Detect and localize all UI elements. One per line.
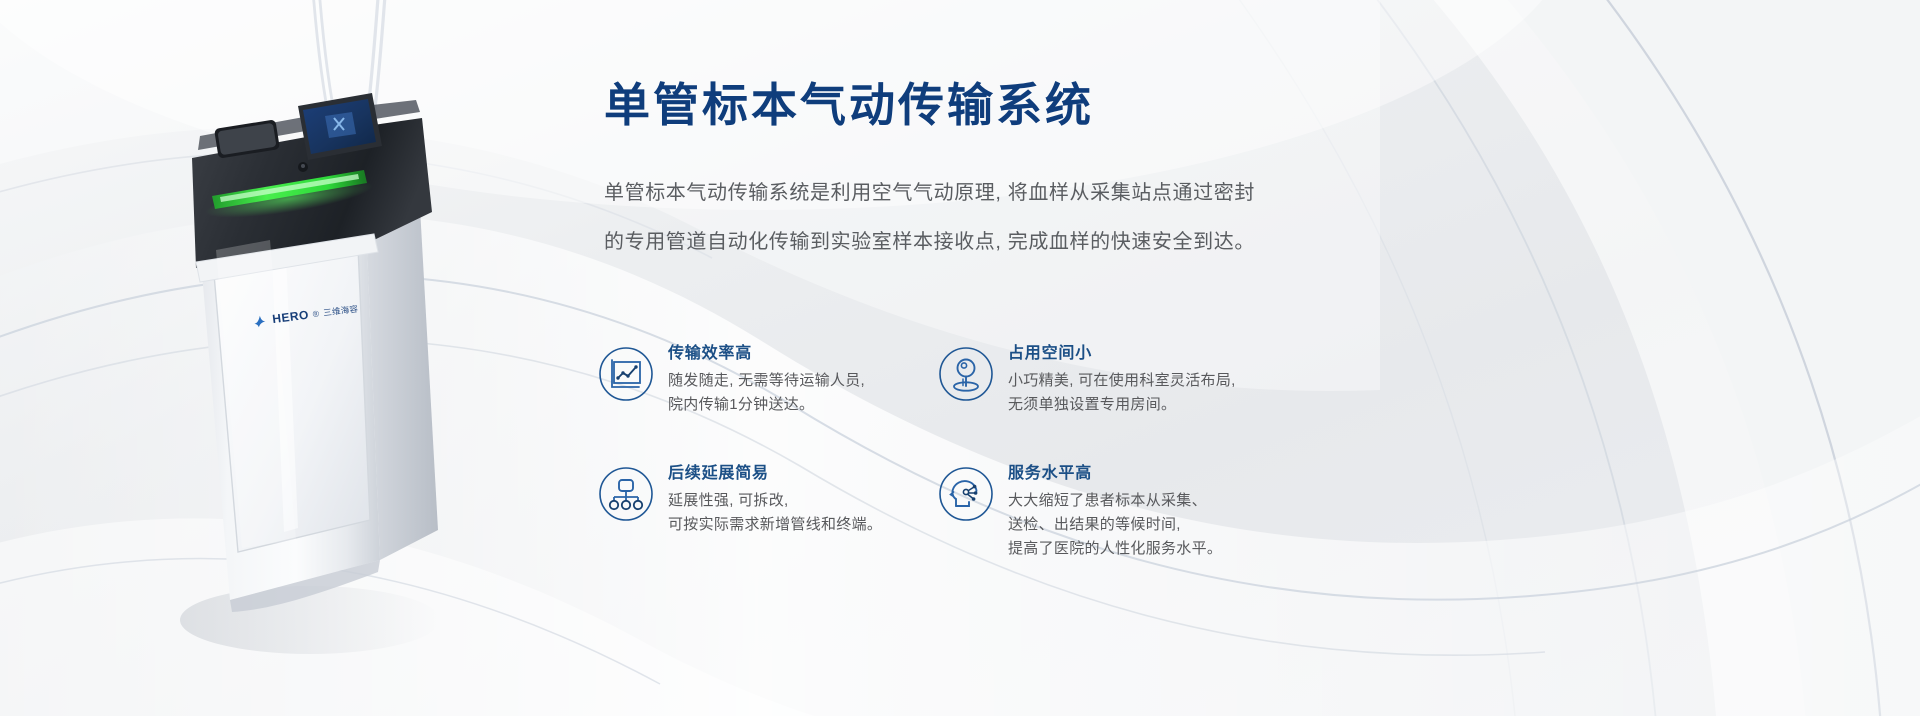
feature-grid: 传输效率高 随发随走, 无需等待运输人员, 院内传输1分钟送达。 占用空间小 小… bbox=[598, 340, 1298, 561]
location-pin-icon bbox=[938, 346, 994, 402]
brand-wordmark: HERO bbox=[272, 308, 310, 326]
brand-registered: ® bbox=[312, 308, 320, 319]
intro-paragraph: 单管标本气动传输系统是利用空气气动原理, 将血样从采集站点通过密封的专用管道自动… bbox=[604, 169, 1264, 267]
feature-text: 占用空间小 小巧精美, 可在使用科室灵活布局, 无须单独设置专用房间。 bbox=[1008, 340, 1236, 418]
page-title: 单管标本气动传输系统 bbox=[604, 78, 1784, 133]
feature-description: 大大缩短了患者标本从采集、 送检、出结果的等候时间, 提高了医院的人性化服务水平… bbox=[1008, 489, 1222, 562]
feature-title: 占用空间小 bbox=[1008, 342, 1236, 366]
feature-text: 后续延展简易 延展性强, 可拆改, 可按实际需求新增管线和终端。 bbox=[668, 460, 882, 538]
feature-item-transfer-efficiency: 传输效率高 随发随走, 无需等待运输人员, 院内传输1分钟送达。 bbox=[598, 340, 928, 418]
brand-chinese: 三维海容 bbox=[323, 303, 359, 319]
feature-description: 延展性强, 可拆改, 可按实际需求新增管线和终端。 bbox=[668, 489, 882, 538]
feature-title: 后续延展简易 bbox=[668, 462, 882, 486]
feature-text: 服务水平高 大大缩短了患者标本从采集、 送检、出结果的等候时间, 提高了医院的人… bbox=[1008, 460, 1222, 562]
ai-head-icon bbox=[938, 466, 994, 522]
product-image bbox=[120, 0, 640, 716]
feature-item-small-footprint: 占用空间小 小巧精美, 可在使用科室灵活布局, 无须单独设置专用房间。 bbox=[938, 340, 1268, 418]
feature-description: 小巧精美, 可在使用科室灵活布局, 无须单独设置专用房间。 bbox=[1008, 369, 1236, 418]
feature-description: 随发随走, 无需等待运输人员, 院内传输1分钟送达。 bbox=[668, 369, 865, 418]
feature-title: 传输效率高 bbox=[668, 342, 865, 366]
line-chart-icon bbox=[598, 346, 654, 402]
hero-bird-icon bbox=[252, 312, 270, 330]
hero-banner: HERO ® 三维海容 单管标本气动传输系统 单管标本气动传输系统是利用空气气动… bbox=[0, 0, 1920, 716]
content-column: 单管标本气动传输系统 单管标本气动传输系统是利用空气气动原理, 将血样从采集站点… bbox=[604, 78, 1784, 267]
feature-text: 传输效率高 随发随走, 无需等待运输人员, 院内传输1分钟送达。 bbox=[668, 340, 865, 418]
feature-title: 服务水平高 bbox=[1008, 462, 1222, 486]
feature-item-easy-expansion: 后续延展简易 延展性强, 可拆改, 可按实际需求新增管线和终端。 bbox=[598, 460, 928, 562]
feature-item-service-level: 服务水平高 大大缩短了患者标本从采集、 送检、出结果的等候时间, 提高了医院的人… bbox=[938, 460, 1268, 562]
hierarchy-tree-icon bbox=[598, 466, 654, 522]
